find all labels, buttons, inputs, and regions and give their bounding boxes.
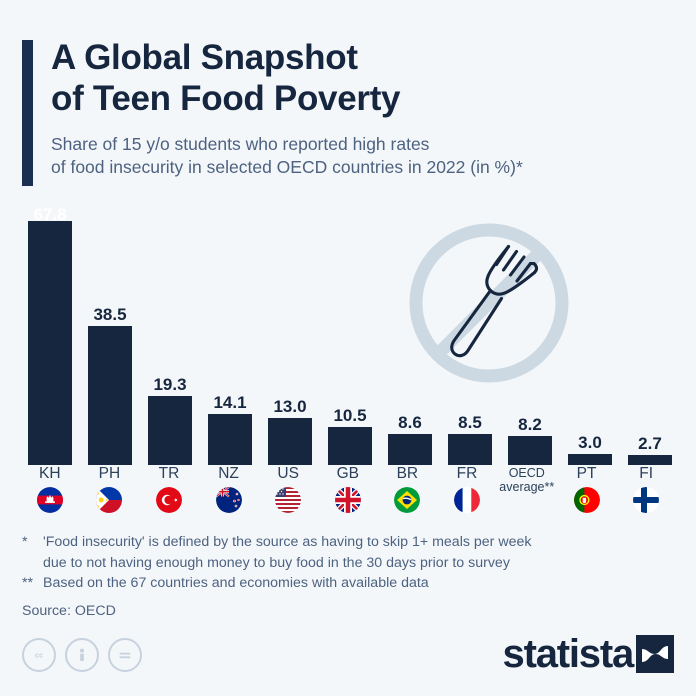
new-zealand-flag-icon: [216, 487, 242, 513]
x-axis-item-pt: PT: [565, 466, 609, 513]
x-axis-item-fi: FI: [624, 466, 668, 513]
country-code-label: OECD average**: [499, 466, 554, 494]
brazil-flag-icon: [394, 487, 420, 513]
x-axis-item-ph: PH: [88, 466, 132, 513]
bar-column-tr[interactable]: 19.3: [148, 200, 192, 465]
cc-icon[interactable]: cc: [22, 638, 56, 672]
footnote-1: * 'Food insecurity' is defined by the so…: [22, 532, 682, 573]
country-code-label: NZ: [218, 466, 239, 483]
bar-value-label: 3.0: [578, 434, 602, 451]
bar-rect: [88, 326, 132, 465]
bar-value-label: 2.7: [638, 435, 662, 452]
bar-column-fi[interactable]: 2.7: [628, 200, 672, 465]
turkey-flag-icon: [156, 487, 182, 513]
bar-rect: [628, 455, 672, 465]
bar-column-nz[interactable]: 14.1: [208, 200, 252, 465]
bar-rect: [508, 436, 552, 466]
country-code-label: FI: [639, 466, 653, 483]
country-code-label: PT: [577, 466, 597, 483]
creative-commons-badges: cc: [22, 638, 142, 672]
bar-value-label: 14.1: [213, 394, 246, 411]
bar-value-label: 8.2: [518, 416, 542, 433]
portugal-flag-icon: [574, 487, 600, 513]
footnote-1-text: 'Food insecurity' is defined by the sour…: [43, 532, 682, 573]
x-axis-item-oecd: OECD average**: [505, 466, 549, 513]
bar-value-label: 67.8: [33, 206, 66, 223]
page-subtitle: Share of 15 y/o students who reported hi…: [51, 133, 672, 180]
x-axis-item-kh: KH: [28, 466, 72, 513]
bar-value-label: 10.5: [333, 407, 366, 424]
country-code-label: TR: [159, 466, 180, 483]
bar-value-label: 8.6: [398, 414, 422, 431]
statista-logo-mark: [636, 635, 674, 673]
statista-wordmark: statista: [503, 634, 633, 674]
bar-column-br[interactable]: 8.6: [388, 200, 432, 465]
bar-rect: [268, 418, 312, 465]
cambodia-flag-icon: [37, 487, 63, 513]
header: A Global Snapshot of Teen Food Poverty S…: [22, 38, 672, 179]
bar-column-gb[interactable]: 10.5: [328, 200, 372, 465]
title-accent-bar: [22, 40, 33, 186]
footnote-2: ** Based on the 67 countries and economi…: [22, 573, 682, 594]
bar-rect: [388, 434, 432, 465]
bar-rect: [448, 434, 492, 465]
bar-rect: [328, 427, 372, 465]
country-code-label: BR: [397, 466, 419, 483]
cc-nd-equals-icon[interactable]: [108, 638, 142, 672]
country-code-label: KH: [39, 466, 61, 483]
bar-column-oecd[interactable]: 8.2: [508, 200, 552, 465]
country-code-label: FR: [457, 466, 478, 483]
statista-logo[interactable]: statista: [503, 634, 674, 674]
bar-column-us[interactable]: 13.0: [268, 200, 312, 465]
bar-value-label: 38.5: [93, 306, 126, 323]
bar-series: 67.838.519.314.113.010.58.68.58.23.02.7: [28, 200, 668, 465]
footnote-2-mark: **: [22, 573, 43, 594]
bar-chart: 67.838.519.314.113.010.58.68.58.23.02.7: [28, 200, 668, 465]
footer: cc statista: [22, 634, 674, 678]
philippines-flag-icon: [96, 487, 122, 513]
bar-value-label: 19.3: [153, 376, 186, 393]
footnote-1-mark: *: [22, 532, 43, 573]
x-axis-item-tr: TR: [147, 466, 191, 513]
footnotes: * 'Food insecurity' is defined by the so…: [22, 532, 682, 622]
bar-column-kh[interactable]: 67.8: [28, 200, 72, 465]
bar-rect: [148, 396, 192, 465]
bar-column-fr[interactable]: 8.5: [448, 200, 492, 465]
svg-text:cc: cc: [35, 651, 43, 660]
header-text: A Global Snapshot of Teen Food Poverty S…: [51, 38, 672, 179]
x-axis-item-br: BR: [386, 466, 430, 513]
bar-rect: [28, 221, 72, 465]
finland-flag-icon: [633, 487, 659, 513]
france-flag-icon: [454, 487, 480, 513]
infographic-canvas: A Global Snapshot of Teen Food Poverty S…: [0, 0, 696, 696]
bar-rect: [568, 454, 612, 465]
country-code-label: GB: [337, 466, 359, 483]
bar-column-ph[interactable]: 38.5: [88, 200, 132, 465]
bar-rect: [208, 414, 252, 465]
x-axis-item-fr: FR: [445, 466, 489, 513]
footnote-2-text: Based on the 67 countries and economies …: [43, 573, 682, 594]
united-kingdom-flag-icon: [335, 487, 361, 513]
cc-by-person-icon[interactable]: [65, 638, 99, 672]
country-code-label: US: [277, 466, 299, 483]
x-axis-labels: KH PH TR NZ: [28, 466, 668, 513]
source-label: Source: OECD: [22, 601, 682, 622]
country-code-label: PH: [99, 466, 121, 483]
bar-value-label: 13.0: [273, 398, 306, 415]
page-title: A Global Snapshot of Teen Food Poverty: [51, 38, 672, 120]
bar-value-label: 8.5: [458, 414, 482, 431]
united-states-flag-icon: [275, 487, 301, 513]
x-axis-item-gb: GB: [326, 466, 370, 513]
x-axis-item-us: US: [266, 466, 310, 513]
bar-column-pt[interactable]: 3.0: [568, 200, 612, 465]
x-axis-item-nz: NZ: [207, 466, 251, 513]
